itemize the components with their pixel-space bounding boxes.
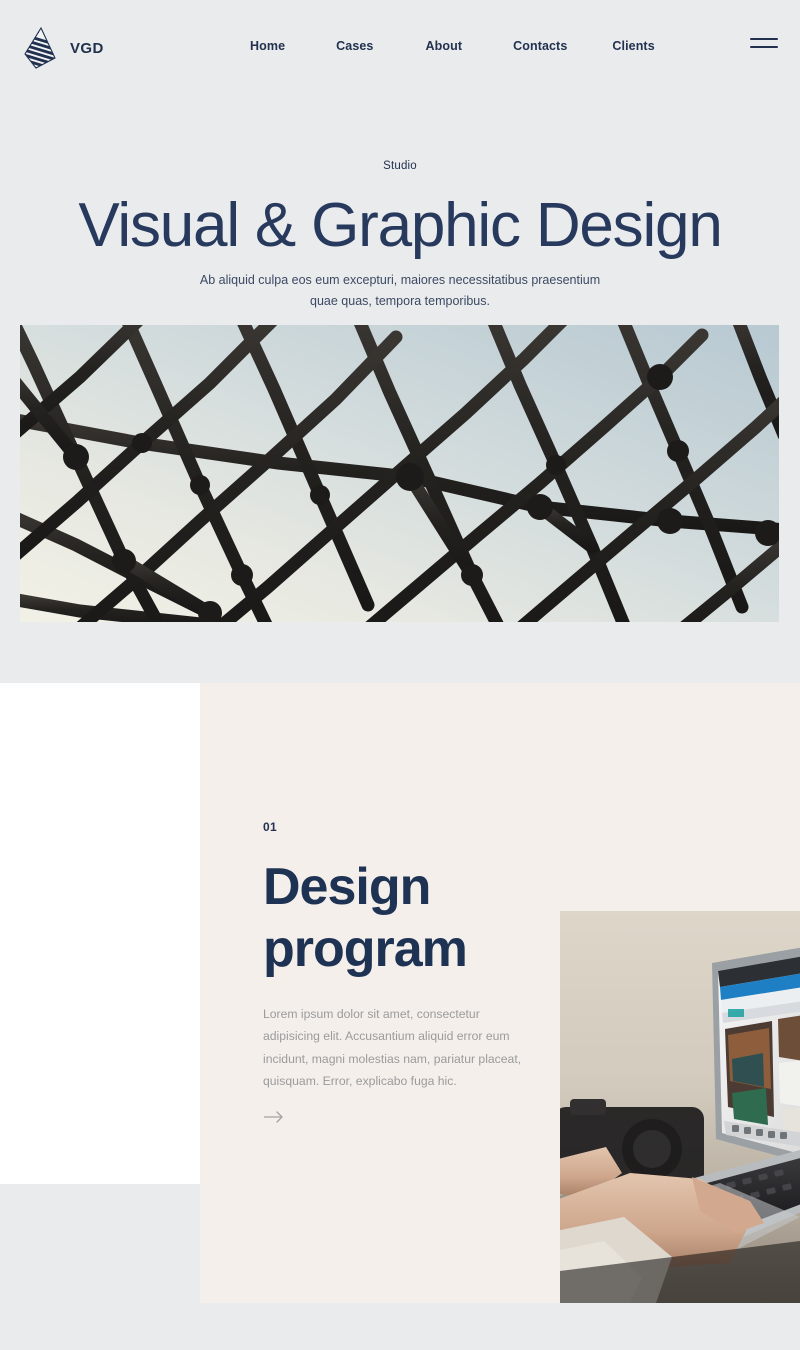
arrow-right-icon <box>263 1109 285 1125</box>
site-header: VGD Home Cases About Contacts Clients <box>0 0 800 95</box>
nav-item-contacts[interactable]: Contacts <box>513 39 567 53</box>
hero-image <box>20 325 779 622</box>
section-one-content: 01 Design program Lorem ipsum dolor sit … <box>263 820 533 1125</box>
hands-typing-on-laptop-photo <box>560 911 800 1303</box>
hamburger-menu-icon[interactable] <box>750 38 778 54</box>
hero-section: Studio Visual & Graphic Design Ab aliqui… <box>0 95 800 683</box>
hamburger-line-bottom <box>750 46 778 48</box>
white-offset-block <box>0 683 200 1184</box>
hero-subtitle: Ab aliquid culpa eos eum excepturi, maio… <box>0 270 800 311</box>
nav-item-home[interactable]: Home <box>250 39 285 53</box>
nav-item-about[interactable]: About <box>425 39 462 53</box>
geodesic-dome-ceiling-photo <box>20 325 779 622</box>
main-navigation: Home Cases About Contacts Clients <box>250 39 655 53</box>
nav-item-cases[interactable]: Cases <box>336 39 373 53</box>
brand-name: VGD <box>70 40 104 57</box>
section-number: 01 <box>263 820 533 834</box>
hero-subtitle-line-2: quae quas, tempora temporibus. <box>0 291 800 312</box>
section-title-line-1: Design <box>263 856 533 918</box>
section-read-more-link[interactable] <box>263 1109 533 1125</box>
brand-logo[interactable]: VGD <box>22 27 104 69</box>
hamburger-line-top <box>750 38 778 40</box>
hero-eyebrow: Studio <box>0 160 800 172</box>
striped-pyramid-logo-icon <box>22 27 58 69</box>
section-title-line-2: program <box>263 918 533 980</box>
page-title: Visual & Graphic Design <box>0 193 800 258</box>
section-body-text: Lorem ipsum dolor sit amet, consectetur … <box>263 1003 531 1093</box>
page-root: VGD Home Cases About Contacts Clients St… <box>0 0 800 1350</box>
section-title: Design program <box>263 856 533 981</box>
section-one-image <box>560 911 800 1303</box>
nav-item-clients[interactable]: Clients <box>612 39 654 53</box>
hero-subtitle-line-1: Ab aliquid culpa eos eum excepturi, maio… <box>0 270 800 291</box>
